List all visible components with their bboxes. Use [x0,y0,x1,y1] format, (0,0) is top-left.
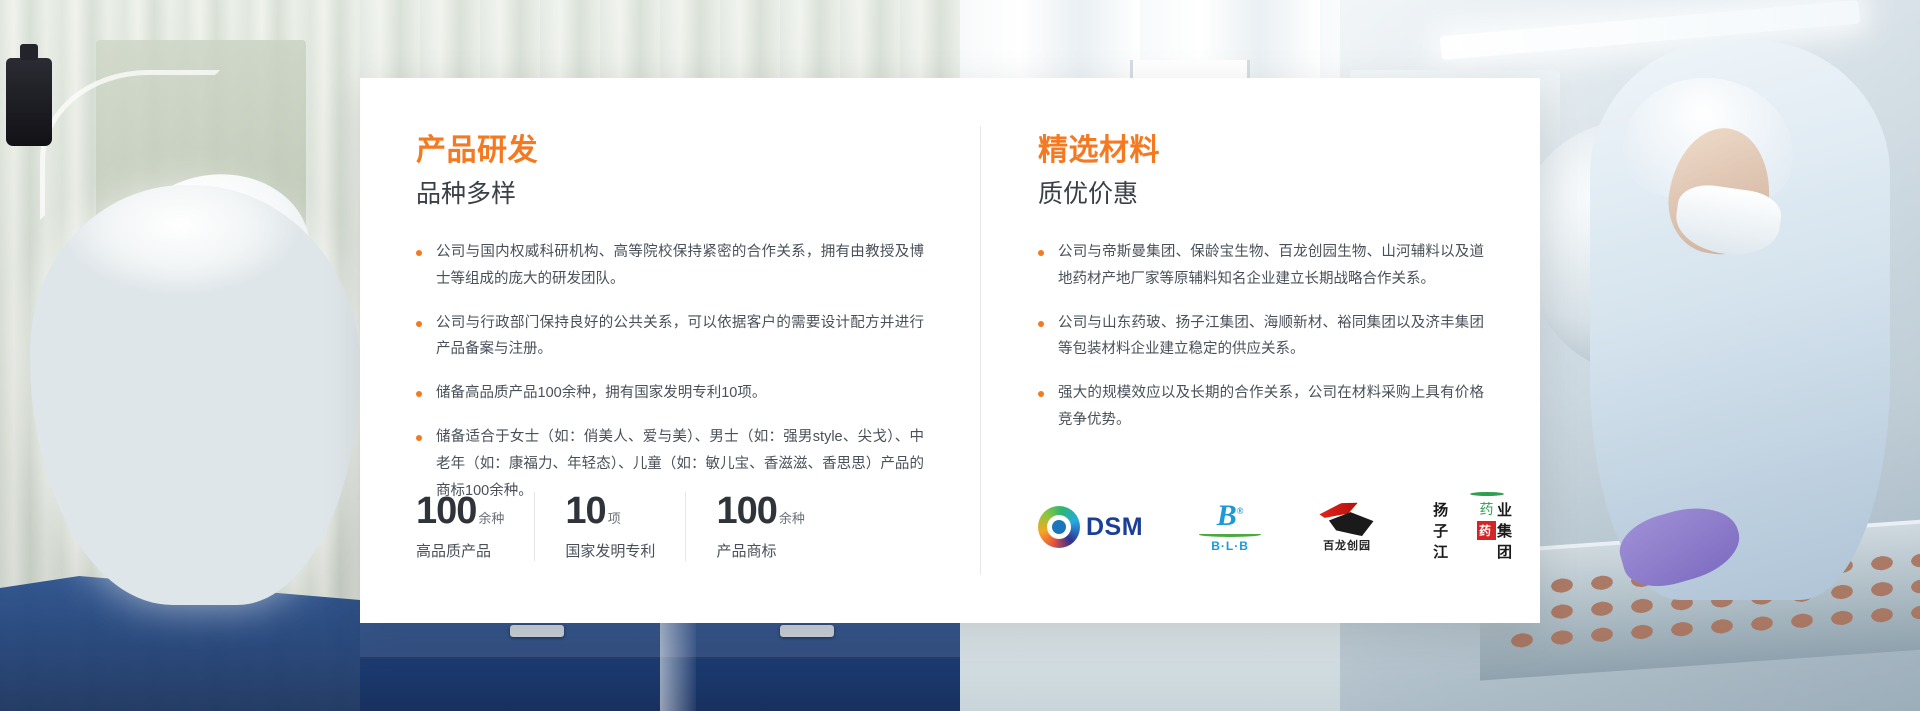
stat-number: 100 [416,490,476,532]
right-subheading: 质优价惠 [1038,179,1484,209]
list-item: 公司与行政部门保持良好的公共关系，可以依据客户的需要设计配方并进行产品备案与注册… [416,310,924,364]
list-item-text: 强大的规模效应以及长期的合作关系，公司在材料采购上具有价格竞争优势。 [1058,385,1484,428]
bullet-dot-icon [1038,321,1044,327]
stat-number: 10 [565,490,605,532]
stat-number: 100 [716,490,776,532]
stat-unit: 余种 [779,511,805,526]
content-card: 产品研发 品种多样 公司与国内权威科研机构、高等院校保持紧密的合作关系，拥有由教… [360,78,1540,623]
stat-unit: 项 [608,511,621,526]
scientist-mask-shape [135,259,242,340]
bullet-dot-icon [416,321,422,327]
bullet-dot-icon [416,250,422,256]
column-selected-materials: 精选材料 质优价惠 公司与帝斯曼集团、保龄宝生物、百龙创园生物、山河辅料以及道地… [980,78,1540,623]
list-item-text: 储备高品质产品100余种，拥有国家发明专利10项。 [436,385,766,401]
list-item-text: 公司与帝斯曼集团、保龄宝生物、百龙创园生物、山河辅料以及道地药材产地厂家等原辅料… [1058,244,1484,287]
blb-logo: B® B·L·B [1199,501,1261,553]
stat-caption: 高品质产品 [416,540,504,561]
left-bullet-list: 公司与国内权威科研机构、高等院校保持紧密的合作关系，拥有由教授及博士等组成的庞大… [416,239,924,505]
blb-letter-icon: B® [1217,501,1244,531]
list-item: 公司与帝斯曼集团、保龄宝生物、百龙创园生物、山河辅料以及道地药材产地厂家等原辅料… [1038,239,1484,293]
stat-caption: 产品商标 [716,540,804,561]
stat-high-quality-products: 100余种 高品质产品 [416,492,535,561]
list-item-text: 公司与国内权威科研机构、高等院校保持紧密的合作关系，拥有由教授及博士等组成的庞大… [436,244,924,287]
scientist-face-shape [137,202,276,362]
cabinet-handle [510,625,564,637]
right-bullet-list: 公司与帝斯曼集团、保龄宝生物、百龙创园生物、山河辅料以及道地药材产地厂家等原辅料… [1038,239,1484,434]
yangzijiang-emblem-icon [1470,492,1504,496]
dsm-logo-text: DSM [1086,513,1143,542]
list-item-text: 储备适合于女士（如：俏美人、爱与美）、男士（如：强男style、尖戈）、中老年（… [436,429,924,499]
stat-caption: 国家发明专利 [565,540,655,561]
list-item: 公司与国内权威科研机构、高等院校保持紧密的合作关系，拥有由教授及博士等组成的庞大… [416,239,924,293]
list-item-text: 公司与山东药玻、扬子江集团、海顺新材、裕同集团以及济丰集团等包装材料企业建立稳定… [1058,315,1484,358]
stat-unit: 余种 [478,511,504,526]
stat-value-line: 100余种 [716,492,804,530]
statistics-row: 100余种 高品质产品 10项 国家发明专利 100余种 产品商标 [416,492,865,561]
dsm-swirl-icon [1038,506,1080,548]
stat-value-line: 10项 [565,492,655,530]
stat-national-patents: 10项 国家发明专利 [565,492,686,561]
dsm-logo: DSM [1038,501,1143,553]
bg-panel-lab-scientist [0,0,360,711]
bailong-logo-text: 百龙创园 [1323,537,1371,553]
blb-logo-text: B·L·B [1211,539,1249,553]
list-item-text: 公司与行政部门保持良好的公共关系，可以依据客户的需要设计配方并进行产品备案与注册… [436,315,924,358]
list-item: 公司与山东药玻、扬子江集团、海顺新材、裕同集团以及济丰集团等包装材料企业建立稳定… [1038,310,1484,364]
stat-product-trademarks: 100余种 产品商标 [716,492,834,561]
registered-mark: ® [1237,506,1244,516]
right-heading: 精选材料 [1038,134,1484,167]
yzj-seal-character: 药 [1477,521,1496,540]
blb-arc-icon [1199,532,1261,537]
bailong-logo: 百龙创园 [1317,501,1377,553]
lab-tubing-shape [40,70,220,220]
left-subheading: 品种多样 [416,179,924,209]
reagent-bottle-shape [6,58,52,146]
bailong-calligraphy-icon [1317,502,1377,534]
left-heading: 产品研发 [416,134,924,167]
yangzijiang-logo: 扬 子 江 药 业 集 团 [1433,501,1540,553]
bullet-dot-icon [1038,391,1044,397]
cabinet-handle [780,625,834,637]
yzj-text-a: 扬 子 江 [1433,499,1476,562]
list-item: 强大的规模效应以及长期的合作关系，公司在材料采购上具有价格竞争优势。 [1038,380,1484,434]
partner-logos-row: DSM B® B·L·B 百龙创园 扬 子 江 药 [1038,501,1540,553]
yzj-text-b: 业 集 团 [1497,499,1540,562]
column-product-rd: 产品研发 品种多样 公司与国内权威科研机构、高等院校保持紧密的合作关系，拥有由教… [360,78,980,623]
bullet-dot-icon [1038,250,1044,256]
list-item: 储备高品质产品100余种，拥有国家发明专利10项。 [416,380,924,407]
bullet-dot-icon [416,435,422,441]
bullet-dot-icon [416,391,422,397]
stat-value-line: 100余种 [416,492,504,530]
